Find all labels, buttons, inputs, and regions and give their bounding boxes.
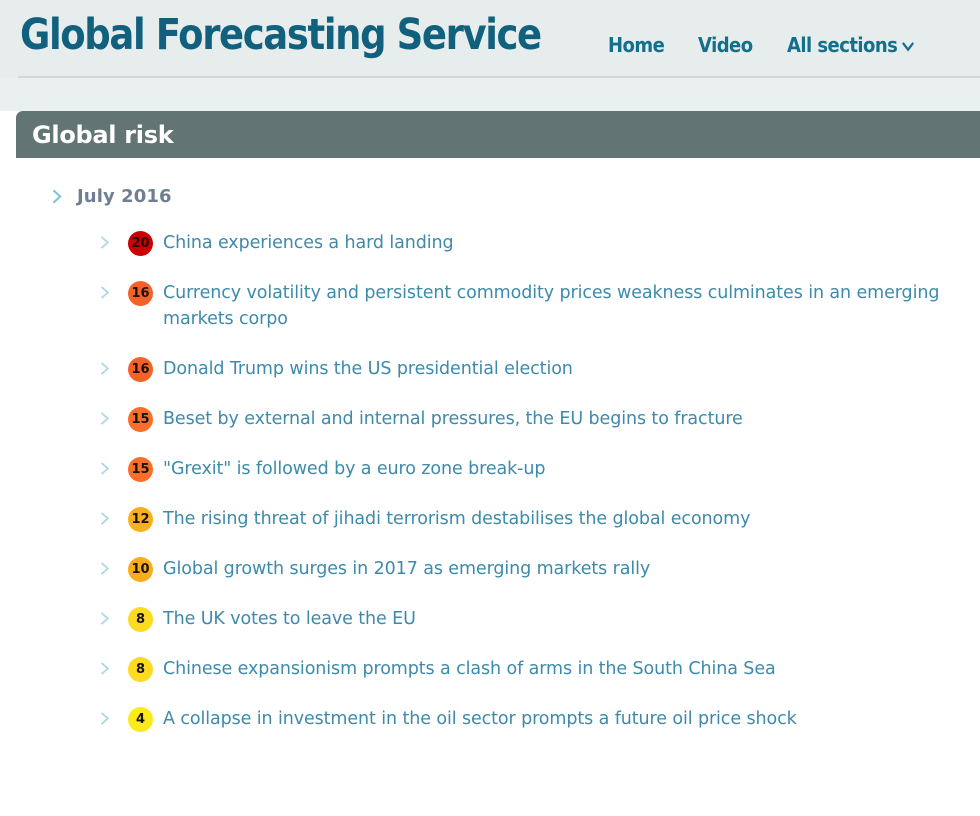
list-item-label: Donald Trump wins the US presidential el…: [163, 356, 573, 382]
nav-link-video[interactable]: Video: [698, 33, 753, 57]
list-item-label: The UK votes to leave the EU: [163, 606, 416, 632]
chevron-right-icon: [100, 511, 111, 526]
list-item[interactable]: 15 Beset by external and internal pressu…: [16, 406, 980, 432]
main-navigation: Home Video All sections: [608, 33, 928, 57]
list-item-label: China experiences a hard landing: [163, 230, 454, 256]
list-item[interactable]: 4 A collapse in investment in the oil se…: [16, 706, 980, 732]
nav-link-all-sections[interactable]: All sections: [787, 33, 914, 57]
global-risk-panel: Global risk July 2016: [16, 111, 980, 756]
nav-link-all-sections-label: All sections: [787, 33, 897, 57]
site-header: Global Forecasting Service Home Video Al…: [0, 0, 980, 78]
nav-link-home[interactable]: Home: [608, 33, 664, 57]
status-badge: 12: [128, 507, 153, 532]
list-item[interactable]: 10 Global growth surges in 2017 as emerg…: [16, 556, 980, 582]
status-badge: 20: [128, 231, 153, 256]
status-badge: 10: [128, 557, 153, 582]
status-badge: 15: [128, 407, 153, 432]
chevron-right-icon: [100, 561, 111, 576]
list-item-label: Currency volatility and persistent commo…: [163, 280, 960, 332]
chevron-right-icon: [100, 661, 111, 676]
status-badge: 15: [128, 457, 153, 482]
list-item-label: Chinese expansionism prompts a clash of …: [163, 656, 776, 682]
month-group-label: July 2016: [77, 186, 172, 207]
chevron-right-icon: [100, 461, 111, 476]
chevron-right-icon: [100, 711, 111, 726]
panel-header: Global risk: [16, 111, 980, 158]
page-title: Global risk: [32, 121, 173, 149]
list-item[interactable]: 8 Chinese expansionism prompts a clash o…: [16, 656, 980, 682]
status-badge: 8: [128, 607, 153, 632]
list-item[interactable]: 8 The UK votes to leave the EU: [16, 606, 980, 632]
status-badge: 4: [128, 707, 153, 732]
chevron-right-icon: [100, 285, 111, 300]
chevron-right-icon: [100, 361, 111, 376]
page-body: Global risk July 2016: [0, 78, 980, 816]
list-item[interactable]: 16 Donald Trump wins the US presidential…: [16, 356, 980, 382]
chevron-right-icon: [100, 235, 111, 250]
list-item[interactable]: 15 "Grexit" is followed by a euro zone b…: [16, 456, 980, 482]
brand-title: Global Forecasting Service: [20, 8, 541, 62]
chevron-down-icon: [902, 40, 914, 53]
chevron-right-icon: [52, 189, 63, 204]
month-group-july-2016[interactable]: July 2016: [16, 182, 980, 210]
page-gap-strip: [0, 78, 980, 111]
risk-list: 20 China experiences a hard landing 16 C…: [16, 210, 980, 732]
list-item[interactable]: 12 The rising threat of jihadi terrorism…: [16, 506, 980, 532]
status-badge: 16: [128, 357, 153, 382]
list-item[interactable]: 20 China experiences a hard landing: [16, 230, 980, 256]
chevron-right-icon: [100, 611, 111, 626]
list-item-label: Beset by external and internal pressures…: [163, 406, 743, 432]
list-item-label: A collapse in investment in the oil sect…: [163, 706, 797, 732]
panel-body: July 2016 20 China experiences a hard la…: [16, 158, 980, 732]
list-item-label: Global growth surges in 2017 as emerging…: [163, 556, 650, 582]
chevron-right-icon: [100, 411, 111, 426]
status-badge: 8: [128, 657, 153, 682]
list-item-label: The rising threat of jihadi terrorism de…: [163, 506, 750, 532]
status-badge: 16: [128, 281, 153, 306]
list-item[interactable]: 16 Currency volatility and persistent co…: [16, 280, 980, 332]
list-item-label: "Grexit" is followed by a euro zone brea…: [163, 456, 545, 482]
